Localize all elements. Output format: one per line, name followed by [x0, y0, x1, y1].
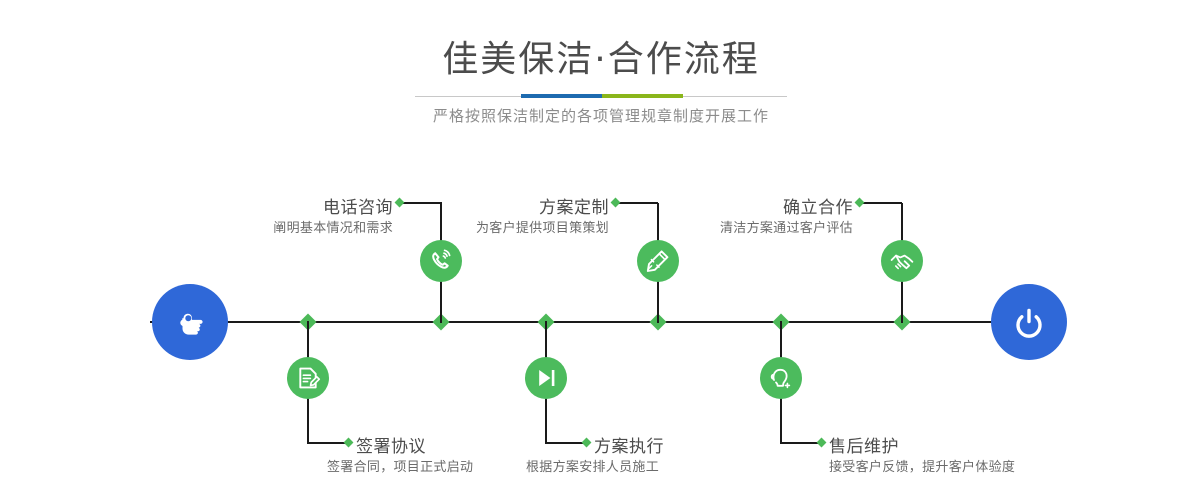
label-marker-1 [395, 198, 405, 208]
page-subtitle: 严格按照保洁制定的各项管理规章制度开展工作 [0, 105, 1202, 126]
step-title-2: 签署协议 [356, 432, 426, 457]
pencil-ruler-icon [645, 248, 671, 274]
connector-horizontal-1 [400, 202, 442, 204]
timeline-end-node[interactable] [991, 284, 1067, 360]
label-marker-6 [817, 438, 827, 448]
step-icon-3[interactable] [637, 240, 679, 282]
step-icon-2[interactable] [287, 357, 329, 399]
connector-horizontal-3 [616, 202, 658, 204]
document-edit-icon [295, 365, 321, 391]
label-marker-4 [582, 438, 592, 448]
step-desc-1: 阐明基本情况和需求 [200, 217, 393, 236]
timeline-start-node[interactable] [152, 284, 228, 360]
step-desc-3: 为客户提供项目策策划 [416, 217, 609, 236]
handshake-icon [889, 248, 915, 274]
step-icon-4[interactable] [525, 357, 567, 399]
label-marker-2 [344, 438, 354, 448]
title-divider [415, 94, 787, 98]
step-title-6: 售后维护 [829, 432, 899, 457]
step-desc-4: 根据方案安排人员施工 [526, 456, 659, 475]
play-forward-icon [533, 365, 559, 391]
label-marker-3 [611, 198, 621, 208]
step-title-4: 方案执行 [594, 432, 664, 457]
step-title-3: 方案定制 [461, 193, 609, 218]
step-desc-5: 清洁方案通过客户评估 [660, 217, 853, 236]
divider-segment-blue [521, 94, 602, 98]
divider-segment-green [602, 94, 683, 98]
step-title-1: 电话咨询 [245, 193, 393, 218]
step-desc-2: 签署合同，项目正式启动 [327, 456, 473, 475]
step-icon-1[interactable] [420, 240, 462, 282]
customer-support-icon [768, 365, 794, 391]
page-title: 佳美保洁·合作流程 [0, 42, 1202, 78]
label-marker-5 [855, 198, 865, 208]
timeline-axis [150, 321, 1055, 323]
step-icon-5[interactable] [881, 240, 923, 282]
step-desc-6: 接受客户反馈，提升客户体验度 [829, 456, 1015, 475]
flowchart-canvas: 佳美保洁·合作流程 严格按照保洁制定的各项管理规章制度开展工作 [0, 0, 1202, 502]
connector-horizontal-5 [860, 202, 902, 204]
pointing-hand-icon [169, 301, 211, 343]
step-title-5: 确立合作 [705, 193, 853, 218]
step-icon-6[interactable] [760, 357, 802, 399]
header: 佳美保洁·合作流程 [0, 0, 1202, 78]
phone-ringing-icon [428, 248, 454, 274]
power-icon [1008, 301, 1050, 343]
